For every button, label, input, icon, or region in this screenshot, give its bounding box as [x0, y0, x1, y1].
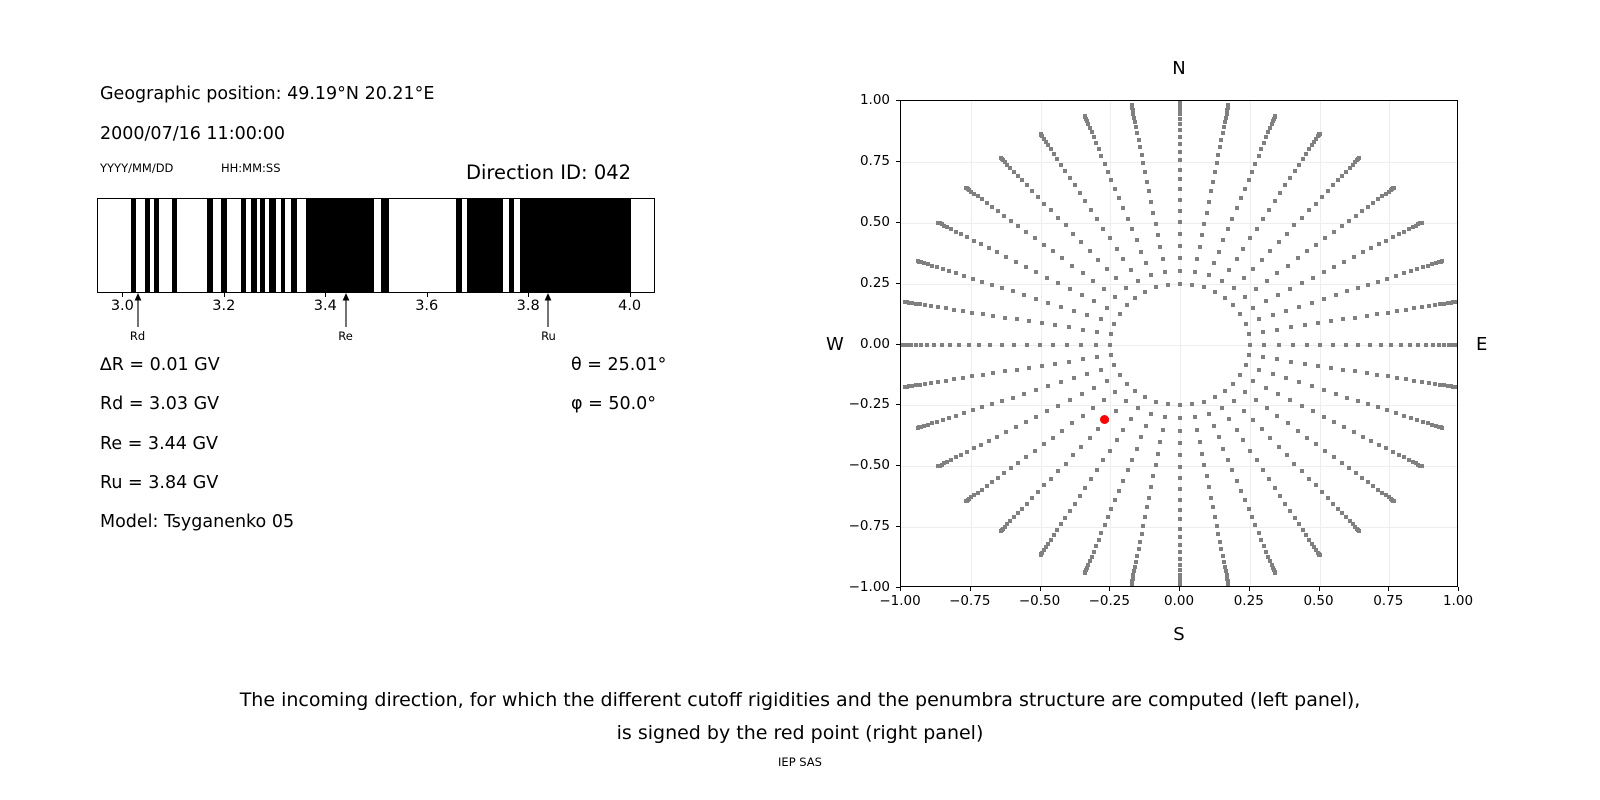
- direction-dot: [1190, 283, 1194, 287]
- direction-dot: [1384, 239, 1388, 243]
- direction-dot: [1036, 490, 1040, 494]
- direction-dot: [971, 408, 975, 412]
- direction-dot: [1143, 170, 1147, 174]
- direction-dot: [1307, 147, 1311, 151]
- direction-dot: [1356, 343, 1360, 347]
- direction-dot: [1115, 247, 1119, 251]
- direction-dot: [965, 235, 969, 239]
- direction-dot: [1433, 382, 1437, 386]
- direction-dot: [1178, 117, 1182, 121]
- direction-dot: [1166, 283, 1170, 287]
- direction-dot: [1038, 343, 1042, 347]
- y-axis-tick: [896, 526, 900, 527]
- direction-dot: [1178, 563, 1182, 567]
- penumbra-band: [131, 199, 136, 292]
- direction-dot: [1059, 380, 1063, 384]
- direction-dot: [1136, 406, 1140, 410]
- direction-dot: [1056, 216, 1060, 220]
- direction-dot: [1255, 458, 1259, 462]
- direction-dot: [995, 435, 999, 439]
- direction-dot: [1239, 196, 1243, 200]
- direction-dot: [1230, 468, 1234, 472]
- direction-dot: [949, 227, 953, 231]
- direction-dot: [1244, 322, 1248, 326]
- direction-dot: [1322, 270, 1326, 274]
- direction-dot: [965, 450, 969, 454]
- direction-dot: [1261, 217, 1265, 221]
- direction-dot: [1248, 449, 1252, 453]
- direction-dot: [1251, 379, 1255, 383]
- direction-dot: [1055, 528, 1059, 532]
- direction-dot: [1115, 438, 1119, 442]
- direction-dot: [1137, 547, 1141, 551]
- direction-dot: [1024, 420, 1028, 424]
- direction-dot: [1102, 287, 1106, 291]
- direction-dot: [1211, 180, 1215, 184]
- direction-dot: [979, 242, 983, 246]
- direction-dot: [1178, 244, 1182, 248]
- direction-dot: [1102, 398, 1106, 402]
- direction-dot: [1033, 449, 1037, 453]
- direction-dot: [1342, 425, 1346, 429]
- penumbra-band: [221, 199, 227, 292]
- direction-dot: [1264, 135, 1268, 139]
- direction-dot: [1369, 439, 1373, 443]
- direction-dot: [1114, 409, 1118, 413]
- direction-dot: [1431, 343, 1435, 347]
- direction-dot: [1207, 273, 1211, 277]
- direction-dot: [1366, 402, 1370, 406]
- direction-dot: [1178, 232, 1182, 236]
- direction-dot: [1357, 529, 1361, 533]
- x-axis-tick-label: −1.00: [879, 593, 920, 609]
- direction-dot: [1242, 276, 1246, 280]
- direction-dot: [1404, 308, 1408, 312]
- direction-dot: [1030, 496, 1034, 500]
- direction-dot: [1420, 464, 1424, 468]
- direction-dot: [987, 246, 991, 250]
- direction-dot: [1211, 505, 1215, 509]
- direction-dot: [1004, 255, 1008, 259]
- compass-label-north: N: [1172, 58, 1185, 79]
- direction-dot: [954, 414, 958, 418]
- direction-dot: [1178, 282, 1182, 286]
- direction-dot: [1318, 343, 1322, 347]
- direction-dot: [1113, 295, 1117, 299]
- direction-dot: [1036, 195, 1040, 199]
- direction-dot: [1056, 469, 1060, 473]
- direction-dot: [1268, 436, 1272, 440]
- direction-dot: [990, 283, 994, 287]
- direction-dot: [1109, 353, 1113, 357]
- direction-dot: [1438, 383, 1442, 387]
- direction-dot: [1255, 227, 1259, 231]
- direction-dot: [1420, 305, 1424, 309]
- direction-dot: [1016, 174, 1020, 178]
- x-axis-tick: [1388, 587, 1389, 591]
- direction-dot: [1366, 480, 1370, 484]
- compass-label-east: E: [1476, 334, 1487, 355]
- direction-dot: [976, 491, 980, 495]
- direction-dot: [1178, 269, 1182, 273]
- direction-dot: [1235, 257, 1239, 261]
- direction-dot: [1392, 499, 1396, 503]
- direction-dot: [1071, 453, 1075, 457]
- direction-dot: [1178, 100, 1182, 103]
- direction-dot: [1247, 507, 1251, 511]
- direction-dot: [1072, 309, 1076, 313]
- direction-dot: [1332, 455, 1336, 459]
- penumbra-band: [520, 199, 631, 292]
- compass-label-south: S: [1173, 624, 1184, 645]
- direction-dot: [1365, 314, 1369, 318]
- direction-dot: [1318, 132, 1322, 136]
- direction-dot: [1178, 527, 1182, 531]
- direction-dot: [1200, 452, 1204, 456]
- direction-dot: [1158, 245, 1162, 249]
- direction-dot: [1065, 343, 1069, 347]
- direction-dot: [1457, 343, 1458, 347]
- penumbra-band: [154, 199, 159, 292]
- direction-dot: [1342, 260, 1346, 264]
- direction-dot: [1025, 502, 1029, 506]
- direction-dot: [1147, 189, 1151, 193]
- direction-dot: [1056, 404, 1060, 408]
- direction-dot: [935, 420, 939, 424]
- direction-dot: [1264, 386, 1268, 390]
- direction-dot: [1113, 187, 1117, 191]
- direction-dot: [1386, 311, 1390, 315]
- direction-dot: [1278, 191, 1282, 195]
- direction-dot: [1369, 246, 1373, 250]
- direction-dot: [1135, 447, 1139, 451]
- y-axis-tick-label: 0.75: [840, 153, 890, 169]
- direction-dot: [1277, 445, 1281, 449]
- direction-dot: [944, 379, 948, 383]
- direction-dot: [1260, 427, 1264, 431]
- param-delta-r: ∆R = 0.01 GV: [100, 355, 220, 375]
- direction-dot: [1141, 161, 1145, 165]
- direction-dot: [1341, 317, 1345, 321]
- direction-dot: [1253, 523, 1257, 527]
- direction-dot: [1288, 176, 1292, 180]
- direction-dot: [1202, 400, 1206, 404]
- direction-dot: [1178, 535, 1182, 539]
- direction-dot: [996, 209, 1000, 213]
- direction-dot: [1243, 498, 1247, 502]
- direction-dot: [1080, 392, 1084, 396]
- direction-dot: [935, 265, 939, 269]
- direction-dot: [1121, 257, 1125, 261]
- direction-dot: [1049, 208, 1053, 212]
- selected-direction-marker[interactable]: [1100, 415, 1109, 424]
- direction-dot: [1424, 343, 1428, 347]
- direction-dot: [1024, 455, 1028, 459]
- direction-dot: [1275, 328, 1279, 332]
- x-axis-tick-label: −0.75: [949, 593, 990, 609]
- direction-dot: [1094, 544, 1098, 548]
- rigidity-tick: [630, 293, 631, 297]
- compass-label-west: W: [826, 334, 844, 355]
- direction-dot: [1134, 125, 1138, 129]
- direction-dot: [1166, 402, 1170, 406]
- gridline-horizontal: [901, 345, 1457, 346]
- direction-dot: [1049, 477, 1053, 481]
- direction-dot: [981, 373, 985, 377]
- direction-dot: [1051, 436, 1055, 440]
- direction-dot: [1243, 295, 1247, 299]
- direction-dot: [976, 194, 980, 198]
- direction-dot: [1262, 343, 1266, 347]
- direction-dot: [1375, 312, 1379, 316]
- direction-id-text: Direction ID: 042: [466, 161, 631, 184]
- direction-dot: [1292, 223, 1296, 227]
- y-axis-tick-label: 1.00: [840, 92, 890, 108]
- direction-dot: [1033, 236, 1037, 240]
- direction-dot: [1314, 243, 1318, 247]
- direction-dot: [1039, 132, 1043, 136]
- direction-dot: [1307, 208, 1311, 212]
- direction-dot: [990, 402, 994, 406]
- direction-dot: [1235, 206, 1239, 210]
- direction-dot: [1220, 279, 1224, 283]
- penumbra-band: [145, 199, 151, 292]
- direction-dot: [1360, 476, 1364, 480]
- y-axis-tick-label: −0.25: [840, 396, 890, 412]
- direction-dot: [1000, 286, 1004, 290]
- direction-dot: [1083, 199, 1087, 203]
- direction-dot: [1088, 249, 1092, 253]
- direction-dot: [1135, 131, 1139, 135]
- direction-dot: [1178, 550, 1182, 554]
- direction-dot: [1178, 177, 1182, 181]
- direction-dot: [1284, 309, 1288, 313]
- direction-dot: [1125, 382, 1129, 386]
- x-axis-tick-label: 1.00: [1443, 593, 1473, 609]
- direction-dot: [1273, 571, 1277, 575]
- direction-dot: [1149, 485, 1153, 489]
- direction-dot: [964, 186, 968, 190]
- x-axis-tick: [900, 587, 901, 591]
- direction-dot: [1277, 343, 1281, 347]
- direction-dot: [954, 271, 958, 275]
- rigidity-tick-label: 3.8: [517, 298, 540, 314]
- direction-dot: [1218, 540, 1222, 544]
- direction-dot: [932, 343, 936, 347]
- direction-dot: [925, 343, 929, 347]
- direction-dot: [1238, 312, 1242, 316]
- x-axis-tick-label: 0.25: [1234, 593, 1264, 609]
- direction-dot: [1213, 170, 1217, 174]
- direction-dot: [1316, 364, 1320, 368]
- y-axis-tick: [896, 344, 900, 345]
- direction-dot: [1300, 404, 1304, 408]
- direction-dot: [980, 405, 984, 409]
- direction-dot: [1311, 276, 1315, 280]
- direction-dot: [1141, 524, 1145, 528]
- direction-dot: [1195, 257, 1199, 261]
- direction-dot: [1292, 462, 1296, 466]
- direction-dot: [1091, 279, 1095, 283]
- direction-dot: [1149, 412, 1153, 416]
- penumbra-band: [241, 199, 246, 292]
- direction-dot: [1254, 398, 1258, 402]
- direction-dot: [1259, 538, 1263, 542]
- direction-dot: [988, 343, 992, 347]
- direction-dot: [1264, 550, 1268, 554]
- rigidity-tick: [528, 293, 529, 297]
- direction-dot: [1202, 463, 1206, 467]
- direction-dot: [1241, 247, 1245, 251]
- x-axis-tick-label: 0.00: [1164, 593, 1194, 609]
- direction-dot: [1345, 396, 1349, 400]
- direction-dot: [1221, 238, 1225, 242]
- y-axis-tick: [896, 404, 900, 405]
- penumbra-band: [509, 199, 514, 292]
- direction-dot: [1092, 550, 1096, 554]
- penumbra-band: [269, 199, 276, 292]
- direction-dot: [947, 416, 951, 420]
- direction-dot: [1402, 414, 1406, 418]
- direction-dot: [1353, 369, 1357, 373]
- direction-dot: [1144, 424, 1148, 428]
- direction-dot: [1083, 486, 1087, 490]
- direction-dot: [1149, 273, 1153, 277]
- direction-dot: [1389, 343, 1393, 347]
- direction-dot: [1244, 363, 1248, 367]
- direction-dot: [1353, 316, 1357, 320]
- direction-dot: [1377, 443, 1381, 447]
- direction-dot: [1227, 268, 1231, 272]
- direction-dot: [1314, 202, 1318, 206]
- direction-dot: [991, 371, 995, 375]
- direction-dot: [1219, 138, 1223, 142]
- direction-dot: [1151, 474, 1155, 478]
- direction-dot: [1067, 325, 1071, 329]
- direction-dot: [1354, 471, 1358, 475]
- direction-dot: [1207, 485, 1211, 489]
- x-axis-tick: [1319, 587, 1320, 591]
- direction-dot: [1055, 157, 1059, 161]
- direction-dot: [1303, 362, 1307, 366]
- direction-dot: [916, 426, 920, 430]
- direction-dot: [1088, 436, 1092, 440]
- direction-dot: [1356, 399, 1360, 403]
- direction-dot: [1215, 161, 1219, 165]
- direction-dot: [1215, 524, 1219, 528]
- x-axis-tick: [1179, 587, 1180, 591]
- direction-dot: [900, 343, 903, 347]
- direction-dot: [1145, 180, 1149, 184]
- direction-dot: [1310, 301, 1314, 305]
- direction-dot: [1266, 555, 1270, 559]
- direction-dot: [916, 259, 920, 263]
- direction-dot: [1247, 332, 1251, 336]
- direction-dot: [1094, 343, 1098, 347]
- direction-dot: [1402, 230, 1406, 234]
- direction-dot: [1261, 355, 1265, 359]
- direction-dot: [1092, 386, 1096, 390]
- direction-dot: [1109, 178, 1113, 182]
- direction-dot: [1264, 299, 1268, 303]
- cutoff-marker-label-ru: Ru: [541, 329, 556, 343]
- direction-dot: [1216, 532, 1220, 536]
- direction-dot: [914, 383, 918, 387]
- y-axis-tick-label: 0.25: [840, 275, 890, 291]
- direction-dot: [1265, 279, 1269, 283]
- direction-dot: [1109, 507, 1113, 511]
- direction-dot: [971, 277, 975, 281]
- direction-dot: [949, 458, 953, 462]
- direction-dot: [961, 309, 965, 313]
- direction-dot: [1310, 384, 1314, 388]
- direction-dot: [1059, 305, 1063, 309]
- direction-dot: [1336, 507, 1340, 511]
- direction-dot: [1297, 305, 1301, 309]
- direction-dot: [1193, 270, 1197, 274]
- direction-dot: [1331, 183, 1335, 187]
- direction-dot: [962, 274, 966, 278]
- direction-dot: [1198, 245, 1202, 249]
- direction-dot: [999, 529, 1003, 533]
- direction-dot: [1332, 420, 1336, 424]
- direction-dot: [1357, 156, 1361, 160]
- direction-dot: [1085, 313, 1089, 317]
- direction-dot: [1133, 120, 1137, 124]
- direction-dot: [1022, 392, 1026, 396]
- direction-dot: [996, 476, 1000, 480]
- direction-dot: [952, 308, 956, 312]
- direction-dot: [1304, 533, 1308, 537]
- direction-dot: [1235, 479, 1239, 483]
- direction-dot: [1178, 487, 1182, 491]
- direction-dot: [1178, 112, 1182, 116]
- direction-dot: [1284, 376, 1288, 380]
- penumbra-band: [291, 199, 297, 292]
- direction-dot: [1291, 343, 1295, 347]
- direction-dot: [1121, 428, 1125, 432]
- geographic-position-text: Geographic position: 49.19°N 20.21°E: [100, 84, 435, 104]
- direction-dot: [1300, 281, 1304, 285]
- direction-dot: [1356, 286, 1360, 290]
- direction-dot: [1046, 384, 1050, 388]
- direction-dot: [1096, 427, 1100, 431]
- direction-dot: [1360, 209, 1364, 213]
- direction-dot: [1154, 463, 1158, 467]
- direction-dot: [1136, 279, 1140, 283]
- param-rd: Rd = 3.03 GV: [100, 394, 219, 414]
- direction-dot: [936, 305, 940, 309]
- direction-dot: [914, 302, 918, 306]
- direction-dot: [1303, 323, 1307, 327]
- direction-dot: [1178, 142, 1182, 146]
- direction-dot: [1002, 214, 1006, 218]
- direction-dot: [1316, 321, 1320, 325]
- direction-dot: [1288, 398, 1292, 402]
- direction-dot: [1095, 355, 1099, 359]
- x-axis-tick-label: −0.50: [1019, 593, 1060, 609]
- direction-dot: [918, 302, 922, 306]
- direction-dot: [1059, 163, 1063, 167]
- direction-dot: [1352, 430, 1356, 434]
- direction-dot: [1178, 568, 1182, 572]
- direction-dot: [1307, 477, 1311, 481]
- direction-dot: [1060, 429, 1064, 433]
- rigidity-tick-label: 3.6: [415, 298, 438, 314]
- direction-dot: [1068, 287, 1072, 291]
- direction-dot: [1226, 227, 1230, 231]
- direction-dot: [948, 343, 952, 347]
